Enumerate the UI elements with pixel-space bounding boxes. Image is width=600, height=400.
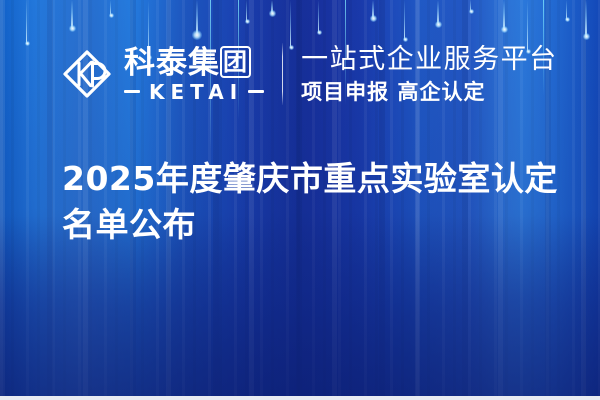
brand-name-en-row: KETAI [124, 81, 264, 103]
dash-right-icon [248, 90, 264, 93]
light-streak-dot-icon [317, 30, 322, 35]
banner-header: 科泰集团 KETAI 一站式企业服务平台 项目申报 高企认定 [0, 38, 600, 110]
brand-name-cn: 科泰集团 [124, 46, 264, 80]
light-streak-dot-icon [370, 15, 377, 22]
light-streak-dot-icon [435, 21, 442, 28]
brand-logo-text: 科泰集团 KETAI [124, 46, 264, 103]
light-streak-icon [318, 0, 319, 33]
light-streak-dot-icon [269, 10, 276, 17]
light-streak-dot-icon [69, 25, 76, 32]
light-streak-icon [503, 0, 505, 29]
dash-left-icon [124, 90, 140, 93]
brand-tagline: 一站式企业服务平台 项目申报 高企认定 [301, 44, 558, 105]
light-streak-dot-icon [565, 17, 570, 22]
promo-banner: 科泰集团 KETAI 一站式企业服务平台 项目申报 高企认定 2025年度肇庆市… [0, 0, 600, 400]
bottom-strip [0, 396, 600, 400]
tagline-sub: 项目申报 高企认定 [301, 79, 558, 105]
tagline-main: 一站式企业服务平台 [301, 44, 558, 76]
light-streak-dot-icon [109, 13, 114, 18]
light-streak-icon [404, 0, 405, 40]
header-divider [282, 43, 283, 105]
page-title: 2025年度肇庆市重点实验室认定名单公布 [62, 156, 572, 248]
ketai-diamond-monogram-icon [62, 49, 112, 99]
brand-name-en: KETAI [140, 81, 248, 103]
brand-name-cn-boxed: 团 [220, 46, 251, 78]
light-streak-icon [196, 0, 198, 34]
brand-name-cn-plain: 科泰集 [124, 45, 220, 81]
light-streak-dot-icon [245, 19, 250, 24]
light-streak-icon [585, 0, 587, 36]
light-streak-icon [71, 0, 73, 28]
brand-logo[interactable]: 科泰集团 KETAI [62, 46, 264, 103]
light-streak-dot-icon [501, 26, 508, 33]
light-streak-dot-icon [469, 9, 474, 14]
